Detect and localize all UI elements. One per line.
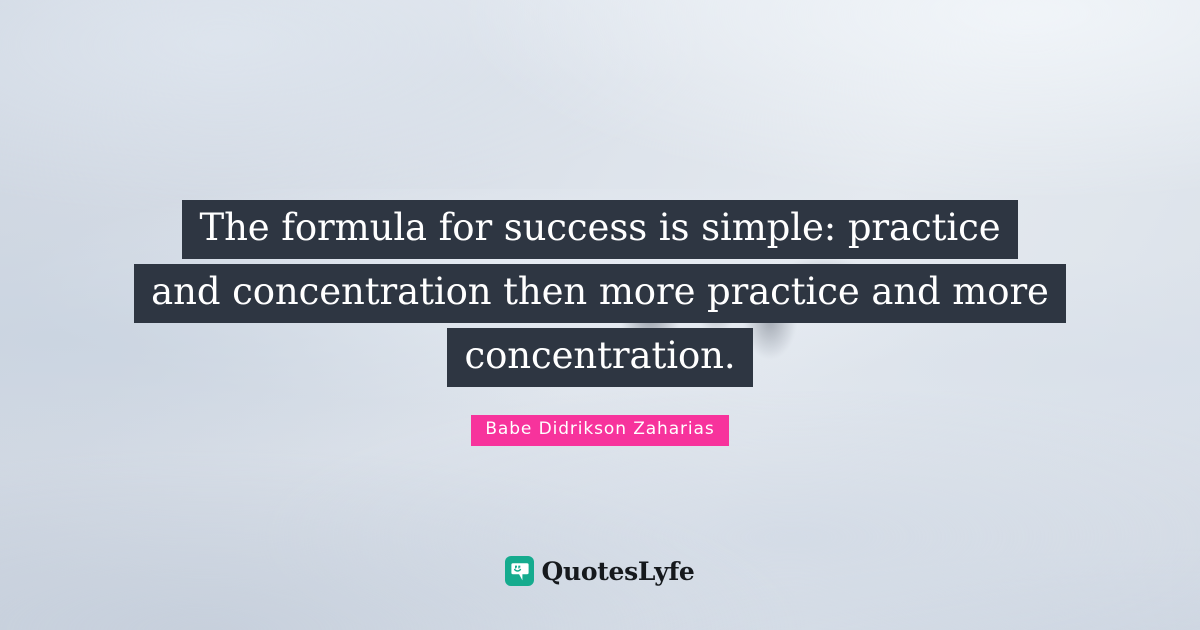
- quote-line-text: and concentration then more practice and…: [134, 264, 1066, 323]
- quote-line-text: concentration.: [447, 328, 752, 387]
- quote-text-block: The formula for success is simple: pract…: [0, 200, 1200, 387]
- brand-name: QuotesLyfe: [541, 559, 694, 584]
- quote-line: The formula for success is simple: pract…: [0, 200, 1200, 259]
- quote-card: The formula for success is simple: pract…: [0, 0, 1200, 630]
- quote-line: and concentration then more practice and…: [0, 264, 1200, 323]
- author-attribution: Babe Didrikson Zaharias: [0, 415, 1200, 446]
- quote-line-text: The formula for success is simple: pract…: [182, 200, 1017, 259]
- quote-line: concentration.: [0, 328, 1200, 387]
- author-name: Babe Didrikson Zaharias: [471, 415, 728, 446]
- brand-logo: QuotesLyfe: [0, 556, 1200, 586]
- quote-smiley-icon: [505, 556, 534, 586]
